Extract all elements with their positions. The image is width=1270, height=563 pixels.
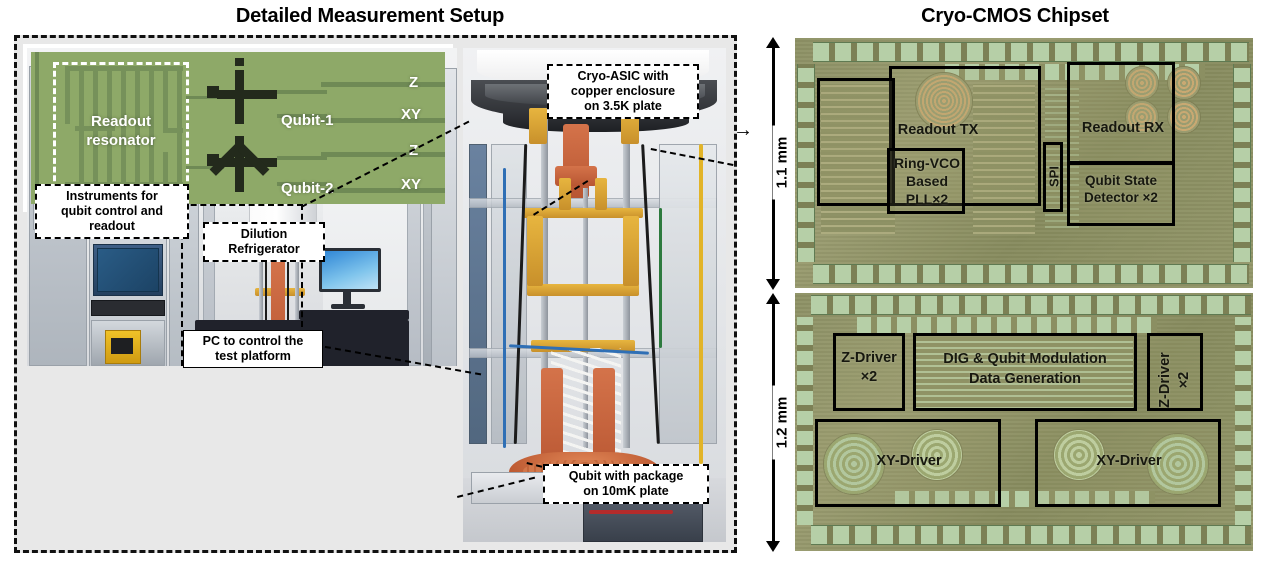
port-label-xy-2: XY <box>401 176 421 193</box>
label-xy-driver-left: XY-Driver <box>857 453 961 470</box>
top-die-pad-ring-top <box>813 42 1249 62</box>
callout-cryo-asic: Cryo-ASIC with copper enclosure on 3.5K … <box>547 64 699 119</box>
qubit-chip-micrograph: Readout resonator Qubit-1 Qubit-2 Z XY Z… <box>31 52 445 204</box>
callout-instruments: Instruments for qubit control and readou… <box>35 184 189 239</box>
bottom-die-pad-ring-top <box>811 295 1251 315</box>
label-dig-modulation: DIG & Qubit Modulation Data Generation <box>915 349 1135 389</box>
bottom-die-pad-ring-inner-top <box>857 317 1157 333</box>
bottom-die-pad-ring-bottom <box>811 525 1251 545</box>
label-z-driver-left: Z-Driver ×2 <box>831 349 907 387</box>
transfer-arrow-icon: → <box>733 120 753 140</box>
bottom-die-micrograph: Z-Driver ×2 DIG & Qubit Modulation Data … <box>795 293 1253 551</box>
callout-dilution-refrigerator: Dilution Refrigerator <box>203 222 325 262</box>
callout-pc-control: PC to control the test platform <box>183 330 323 368</box>
bottom-die-pad-ring-right <box>1235 317 1251 525</box>
measurement-setup-panel: Readout resonator Qubit-1 Qubit-2 Z XY Z… <box>14 35 737 553</box>
dimension-top-die-height-label: 1.1 mm <box>773 126 792 200</box>
top-die-pad-ring-right <box>1233 64 1251 262</box>
dimension-bottom-die-height-label: 1.2 mm <box>773 386 792 460</box>
bottom-die-pad-ring-left <box>797 317 813 525</box>
right-panel-title: Cryo-CMOS Chipset <box>760 5 1270 28</box>
top-die-micrograph: Readout TX Ring-VCO Based PLL×2 SPI Read… <box>795 38 1253 288</box>
left-panel-title: Detailed Measurement Setup <box>0 5 740 28</box>
label-z-driver-right: Z-Driver ×2 <box>1156 342 1194 418</box>
label-spi: SPI <box>1046 156 1063 198</box>
label-qubit-state-detector: Qubit State Detector ×2 <box>1069 172 1173 206</box>
label-ring-vco-pll: Ring-VCO Based PLL×2 <box>887 154 967 208</box>
port-label-xy-1: XY <box>401 106 421 123</box>
block-readout-rx <box>1067 62 1175 164</box>
top-die-pad-ring-bottom <box>813 264 1249 284</box>
block-pll-left <box>817 78 895 206</box>
label-xy-driver-right: XY-Driver <box>1077 453 1181 470</box>
label-readout-rx: Readout RX <box>1073 120 1173 137</box>
chipset-panel: Readout TX Ring-VCO Based PLL×2 SPI Read… <box>755 35 1270 555</box>
callout-qubit-package: Qubit with package on 10mK plate <box>543 464 709 504</box>
figure-root: Detailed Measurement Setup Cryo-CMOS Chi… <box>0 0 1270 563</box>
top-die-pad-ring-left <box>797 64 815 262</box>
qubit-1-label: Qubit-1 <box>281 112 334 129</box>
readout-resonator-label: Readout resonator <box>69 112 173 150</box>
label-readout-tx: Readout TX <box>883 122 993 139</box>
port-label-z-1: Z <box>409 74 418 91</box>
